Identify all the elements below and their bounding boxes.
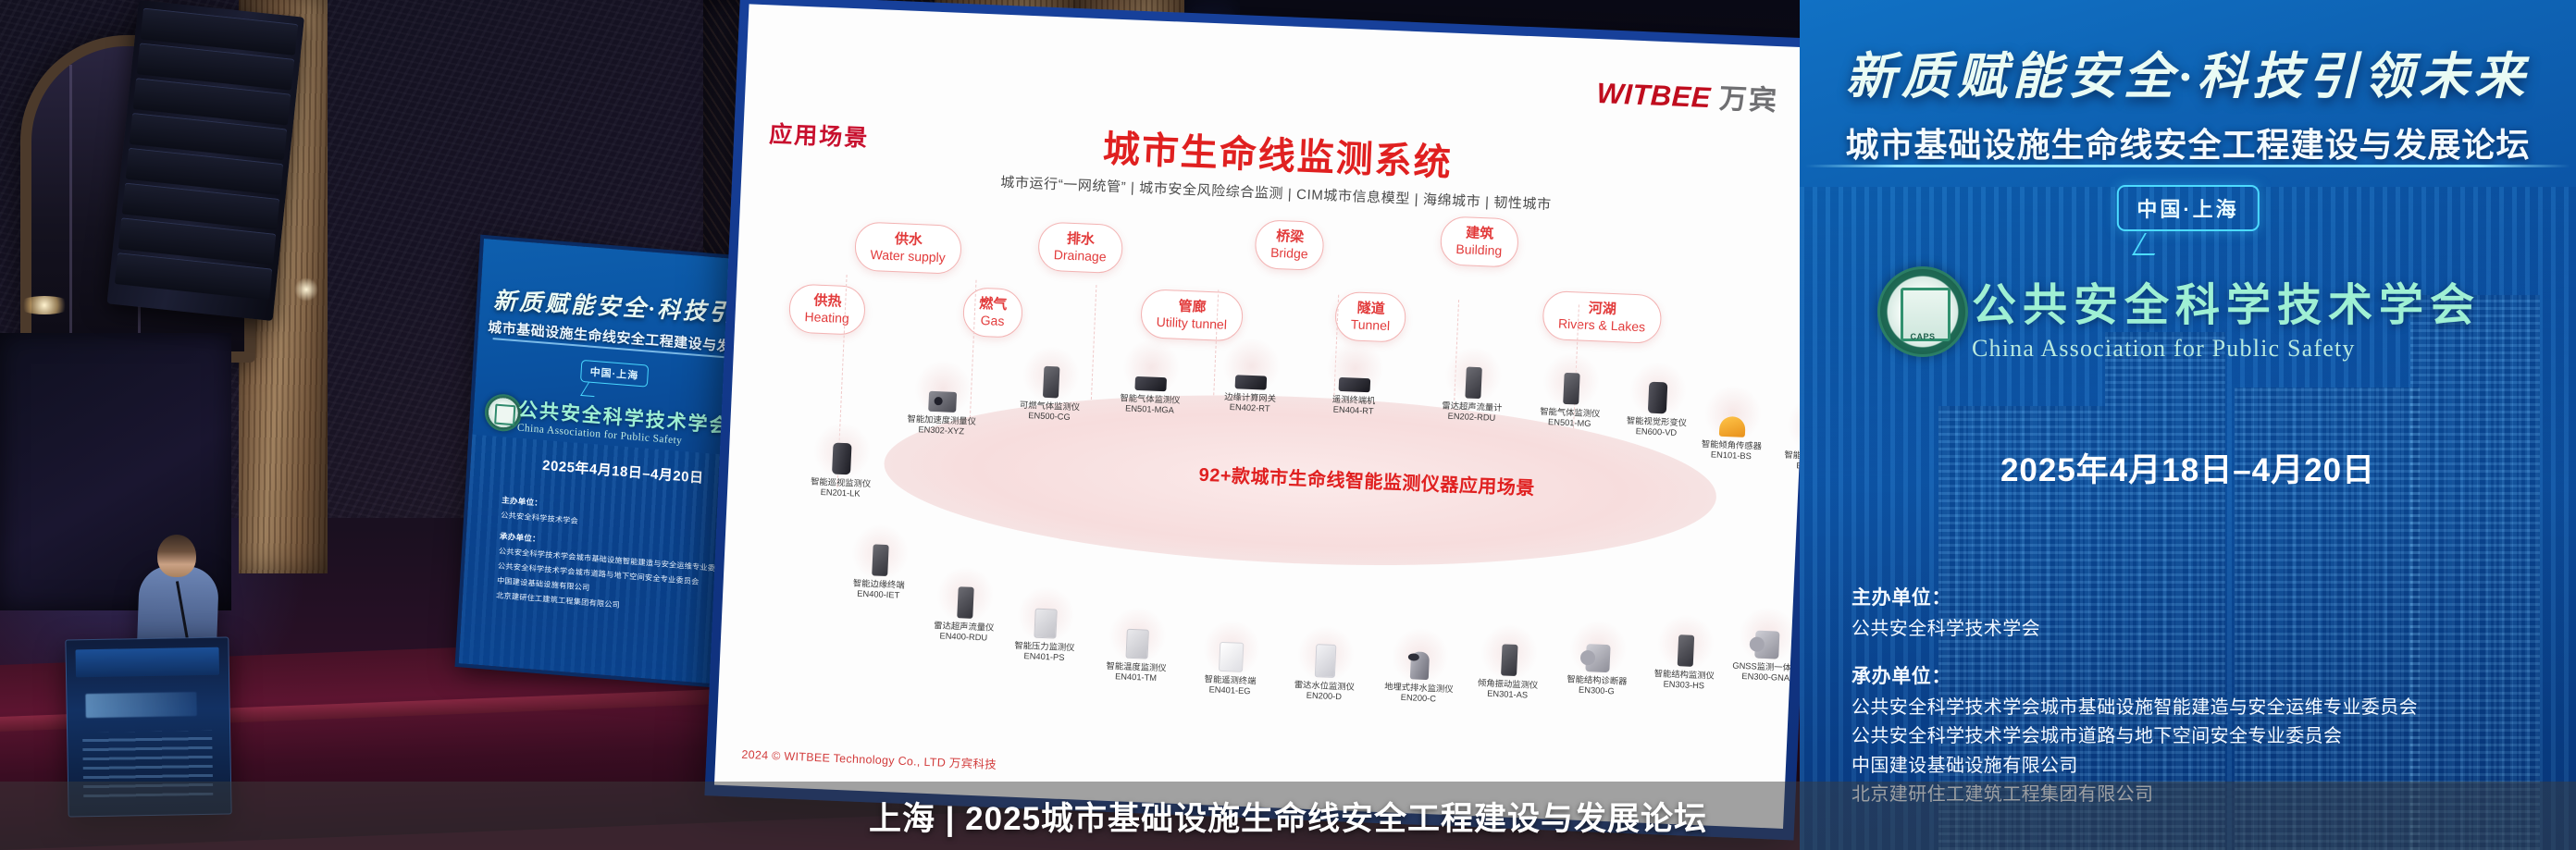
- wall-location-chip: 中国·上海: [2116, 185, 2259, 231]
- caption-text: 上海 | 2025城市基础设施生命线安全工程建设与发展论坛: [869, 793, 1707, 840]
- category-bubble-bridge: 桥梁 Bridge: [1254, 219, 1325, 271]
- wall-organizer-item-1: 公共安全科学技术学会城市道路与地下空间安全专业委员会: [1851, 722, 2555, 752]
- category-en: Heating: [804, 309, 849, 327]
- wall-association-cn: 公共安全科学技术学会: [1972, 268, 2481, 333]
- telemetry-terminal-icon: [1303, 341, 1408, 394]
- radar-level-icon: [1273, 627, 1379, 680]
- category-cn: 供热: [805, 291, 850, 311]
- wall-organizer-item-2: 中国建设基础设施有限公司: [1851, 752, 2555, 782]
- right-led-wall: 新质赋能安全·科技引领未来 城市基础设施生命线安全工程建设与发展论坛 中国·上海…: [1800, 0, 2576, 850]
- category-cn: 桥梁: [1271, 228, 1309, 247]
- device-item: 智能压力监测仪EN401-PS: [992, 588, 1098, 664]
- temperature-monitor-icon: [1085, 609, 1191, 661]
- device-item: 边缘计算网关EN402-RT: [1197, 339, 1304, 415]
- device-item: 智能温度监测仪EN401-TM: [1084, 609, 1190, 684]
- left-organizer-label: 承办单位：: [500, 531, 540, 544]
- category-en: Gas: [978, 313, 1007, 330]
- category-bubble-drainage: 排水 Drainage: [1037, 221, 1123, 274]
- category-cn: 燃气: [979, 295, 1008, 314]
- device-item: 雷达水位监测仪EN200-D: [1272, 627, 1379, 703]
- wall-organizers: 主办单位： 公共安全科学技术学会 承办单位： 公共安全科学技术学会城市基础设施智…: [1851, 583, 2555, 810]
- wall-calligraphy: 新质赋能安全·科技引领未来: [1800, 35, 2576, 108]
- caps-seal-caption: CAPS: [1880, 332, 1965, 341]
- wall-date: 2025年4月18日–4月20日: [1800, 444, 2576, 491]
- accelerometer-icon: [890, 362, 996, 414]
- witbee-logo: WITBEE 万宾: [1596, 70, 1779, 118]
- category-en: Water supply: [870, 247, 946, 266]
- category-cn: 排水: [1054, 229, 1108, 249]
- left-organizer-item-2: 中国建设基础设施有限公司: [497, 576, 590, 592]
- category-bubble-rivers-lakes: 河湖 Rivers & Lakes: [1542, 290, 1662, 344]
- witbee-logo-cn: 万宾: [1718, 76, 1779, 119]
- category-bubble-utility-tunnel: 管廊 Utility tunnel: [1140, 289, 1245, 342]
- left-host-label: 主办单位：: [502, 495, 542, 508]
- category-bubble-heating: 供热 Heating: [788, 283, 867, 335]
- category-en: Tunnel: [1350, 317, 1390, 336]
- wall-subtitle-rule: [1805, 165, 2570, 167]
- category-en: Rivers & Lakes: [1558, 316, 1646, 337]
- device-item: 雷达超声流量计EN202-RDU: [1419, 349, 1526, 425]
- wall-association-en: China Association for Public Safety: [1972, 335, 2481, 363]
- wall-organizer-label: 承办单位：: [1851, 661, 2555, 689]
- wall-host-label: 主办单位：: [1851, 583, 2555, 610]
- category-bubble-tunnel: 隧道 Tunnel: [1334, 291, 1407, 343]
- wall-association: 公共安全科学技术学会 China Association for Public …: [1972, 268, 2481, 363]
- wall-subtitle: 城市基础设施生命线安全工程建设与发展论坛: [1800, 118, 2576, 166]
- presentation-slide: WITBEE 万宾 应用场景 城市生命线监测系统 城市运行“一网统管” | 城市…: [714, 4, 1818, 829]
- left-host-item-0: 公共安全科学技术学会: [501, 511, 578, 525]
- wall-host-item-0: 公共安全科学技术学会: [1851, 615, 2555, 645]
- slide-copyright: 2024 © WITBEE Technology Co., LTD 万宾科技: [741, 745, 997, 772]
- category-en: Bridge: [1270, 245, 1308, 264]
- device-item: 可燃气体监测仪EN500-CG: [997, 348, 1104, 424]
- conference-photo: 新质赋能安全·科技引领未来 城市基础设施生命线安全工程建设与发展论坛 中国·上海…: [0, 0, 2576, 850]
- pressure-monitor-icon: [993, 588, 1098, 641]
- ceiling-lamp-b: [17, 296, 72, 314]
- radar-flowmeter-icon: [1420, 349, 1526, 401]
- device-item: 智能遥测终端EN401-EG: [1178, 622, 1284, 697]
- category-bubble-water-supply: 供水 Water supply: [854, 221, 962, 275]
- presenter-head: [157, 535, 196, 577]
- stage-light-glow: [294, 277, 318, 302]
- category-en: Building: [1455, 241, 1503, 260]
- category-cn: 隧道: [1351, 299, 1391, 318]
- projection-screen: WITBEE 万宾 应用场景 城市生命线监测系统 城市运行“一网统管” | 城市…: [704, 0, 1829, 840]
- line-array-speaker: [107, 0, 305, 321]
- smart-inspection-icon: [789, 425, 895, 477]
- category-en: Drainage: [1053, 247, 1107, 265]
- device-item: 智能加速度测量仪EN302-XYZ: [889, 362, 996, 437]
- bottom-caption-bar: 上海 | 2025城市基础设施生命线安全工程建设与发展论坛: [0, 782, 2576, 850]
- edge-gateway-icon: [1199, 339, 1305, 392]
- device-item: 智能气体监测仪EN501-MGA: [1097, 340, 1204, 416]
- witbee-logo-latin: WITBEE: [1596, 77, 1712, 115]
- gas-monitor-icon: [1098, 340, 1204, 393]
- category-bubble-gas: 燃气 Gas: [962, 287, 1023, 339]
- device-item: 智能巡视监测仪EN201-LK: [788, 425, 895, 500]
- left-banner-chip-tail-icon: [580, 383, 602, 398]
- device-item: 遥测终端机EN404-RT: [1301, 341, 1407, 417]
- telemetry-terminal-2-icon: [1179, 622, 1284, 674]
- combustible-gas-icon: [998, 348, 1104, 400]
- caps-seal-icon: CAPS: [1877, 266, 1968, 357]
- category-bubble-building: 建筑 Building: [1440, 216, 1519, 267]
- category-cn: 建筑: [1456, 224, 1504, 243]
- wall-organizer-item-0: 公共安全科学技术学会城市基础设施智能建造与安全运维专业委员会: [1851, 694, 2555, 723]
